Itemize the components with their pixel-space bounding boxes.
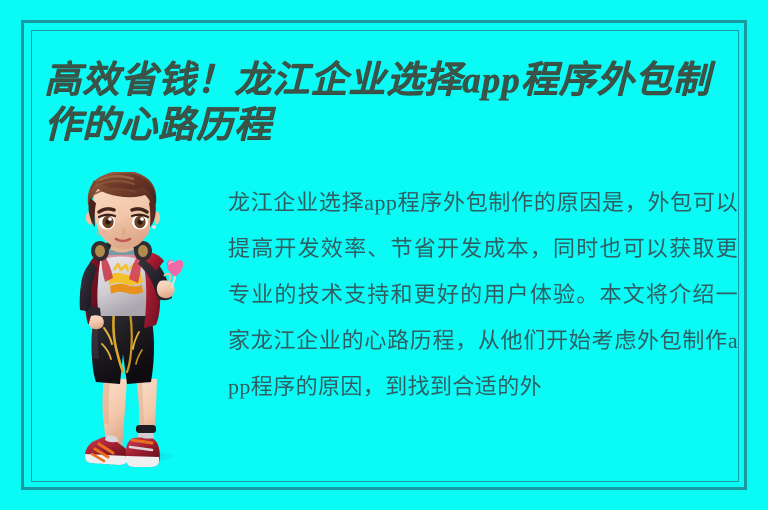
article-page: { "page": { "background_color": "#0afaf5… [0,0,768,510]
article-body: 龙江企业选择app程序外包制作的原因是，外包可以提高开发效率、节省开发成本，同时… [214,172,738,410]
article-body-text: 龙江企业选择app程序外包制作的原因是，外包可以提高开发效率、节省开发成本，同时… [228,180,738,410]
title-block: 高效省钱！龙江企业选择app程序外包制作的心路历程 [44,58,736,148]
page-title: 高效省钱！龙江企业选择app程序外包制作的心路历程 [44,58,736,148]
chibi-boy-character-icon [44,172,214,467]
illustration-panel [44,172,214,467]
content-row: 龙江企业选择app程序外包制作的原因是，外包可以提高开发效率、节省开发成本，同时… [44,172,738,472]
